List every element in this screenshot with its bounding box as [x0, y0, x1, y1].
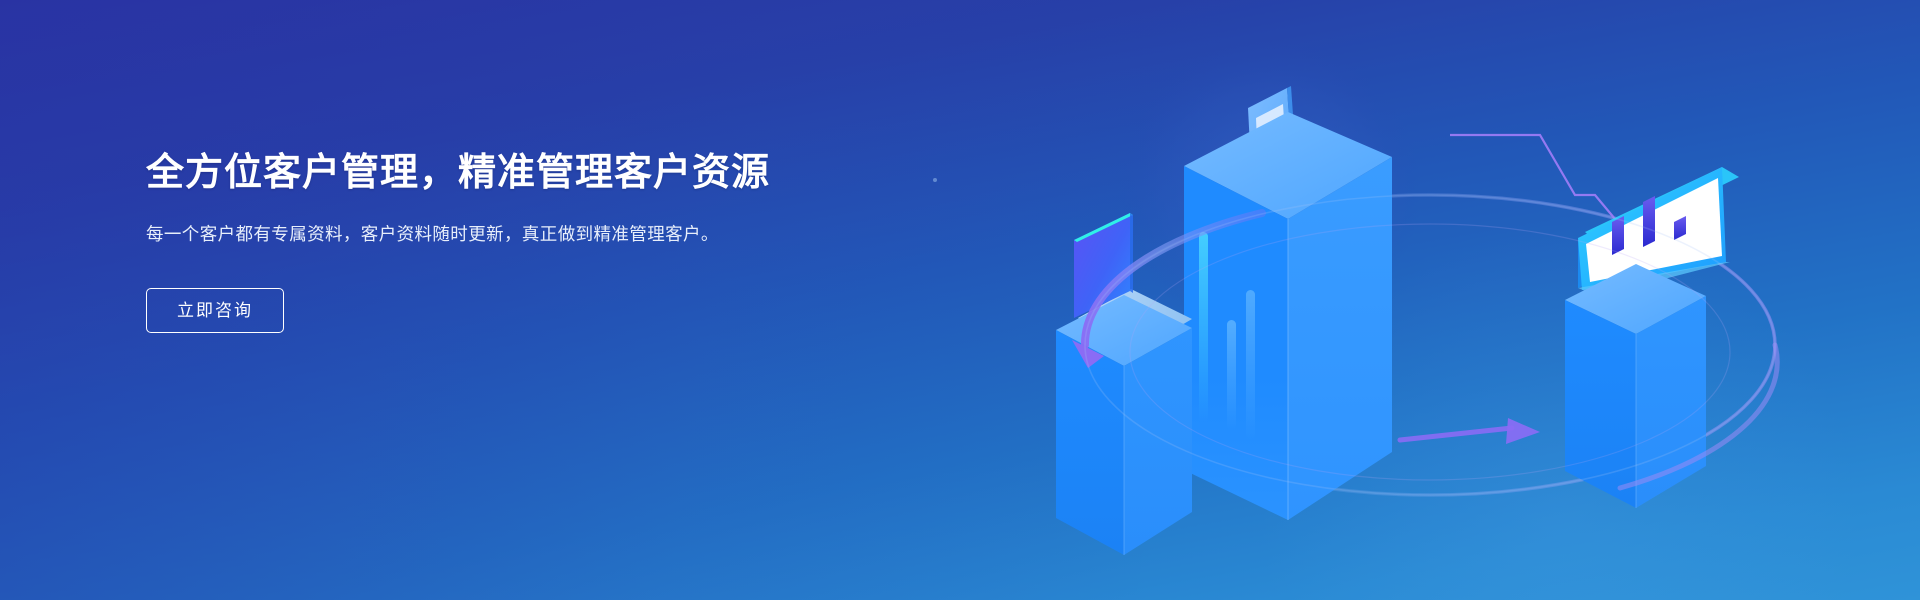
hero-subtitle: 每一个客户都有专属资料，客户资料随时更新，真正做到精准管理客户。 [146, 220, 746, 248]
pillar-right [1565, 167, 1739, 508]
pillar-center-right [1288, 157, 1392, 520]
chart-bar [1612, 216, 1624, 255]
decor-dot [933, 178, 937, 182]
hero-copy: 全方位客户管理，精准管理客户资源 每一个客户都有专属资料，客户资料随时更新，真正… [146, 150, 906, 333]
pillar-center [1184, 86, 1392, 520]
pillar-left [1056, 213, 1192, 555]
page-title: 全方位客户管理，精准管理客户资源 [146, 150, 906, 198]
arrow-right-icon [1506, 418, 1540, 444]
inner-light-bar [1227, 320, 1236, 430]
pillar-right-left [1565, 300, 1636, 508]
inner-light-bar [1199, 232, 1208, 422]
isometric-illustration [1000, 0, 1920, 600]
inner-light-bar [1246, 290, 1255, 440]
consult-now-button[interactable]: 立即咨询 [146, 288, 284, 333]
pillar-left-right [1124, 328, 1192, 555]
hero-banner: 全方位客户管理，精准管理客户资源 每一个客户都有专属资料，客户资料随时更新，真正… [0, 0, 1920, 600]
chart-bar [1643, 196, 1655, 247]
